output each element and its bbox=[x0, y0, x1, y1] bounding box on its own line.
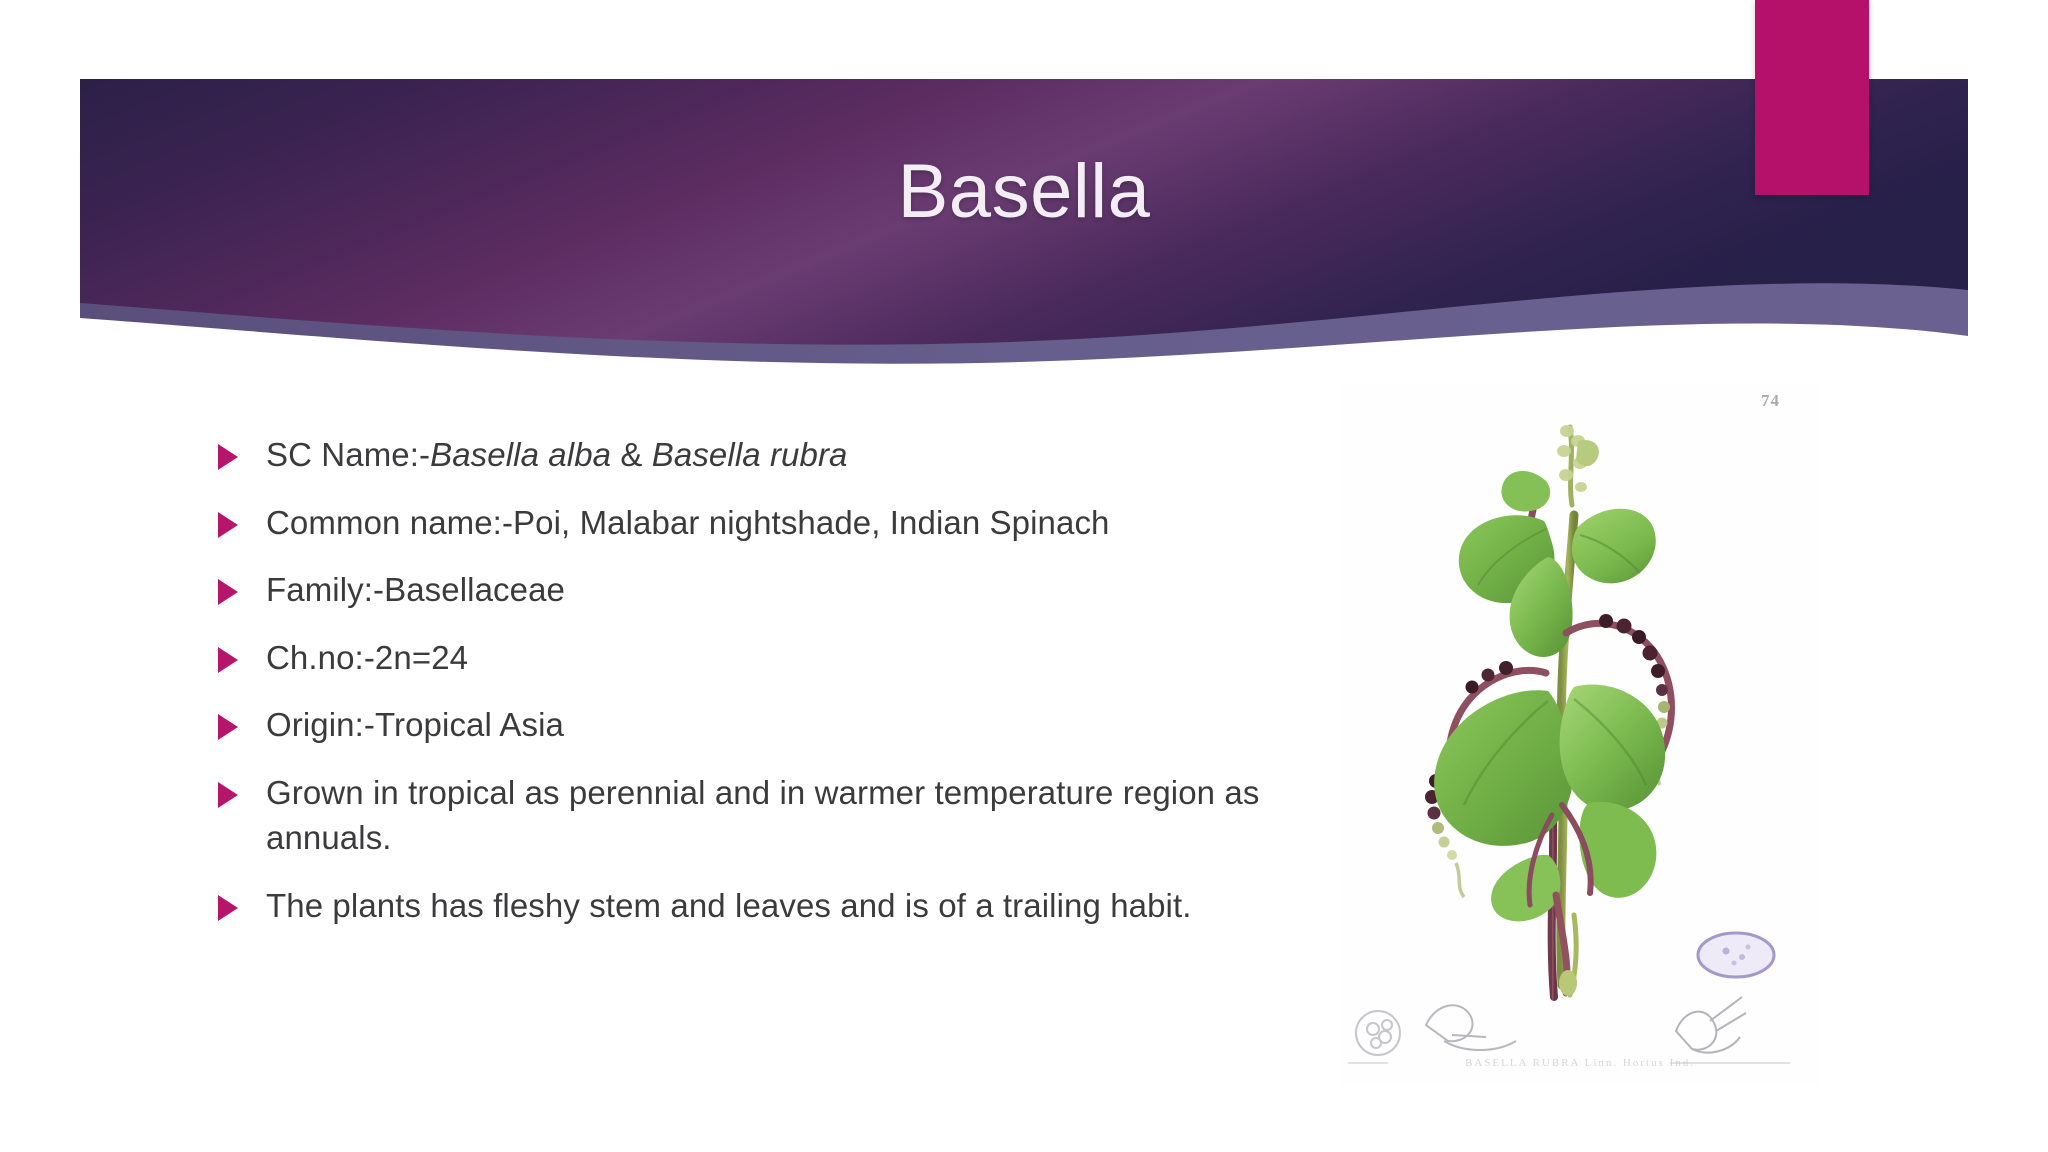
triangle-bullet-icon bbox=[218, 647, 244, 673]
triangle-bullet-icon bbox=[218, 579, 244, 605]
list-item-text: Grown in tropical as perennial and in wa… bbox=[266, 770, 1328, 861]
list-item-text: Ch.no:-2n=24 bbox=[266, 635, 1328, 681]
triangle-bullet-icon bbox=[218, 782, 244, 808]
list-item: Family:-Basellaceae bbox=[218, 567, 1328, 613]
presentation-slide: Basella SC Name:-Basella alba & Basella … bbox=[0, 0, 2048, 1152]
triangle-bullet-icon bbox=[218, 895, 244, 921]
list-item-text: SC Name:-Basella alba & Basella rubra bbox=[266, 432, 1328, 478]
basella-plant-svg bbox=[1340, 385, 1820, 1085]
basal-bud bbox=[1559, 970, 1577, 996]
list-item: The plants has fleshy stem and leaves an… bbox=[218, 883, 1328, 929]
plant-illustration: 74 BASELLA RUBRA Linn. Hortus Ind. bbox=[1340, 385, 1820, 1085]
triangle-bullet-icon bbox=[218, 444, 244, 470]
list-item: SC Name:-Basella alba & Basella rubra bbox=[218, 432, 1328, 478]
list-item-text: The plants has fleshy stem and leaves an… bbox=[266, 883, 1328, 929]
list-item: Common name:-Poi, Malabar nightshade, In… bbox=[218, 500, 1328, 546]
page-title: Basella bbox=[898, 150, 1151, 234]
list-item-text: Family:-Basellaceae bbox=[266, 567, 1328, 613]
plate-number: 74 bbox=[1761, 391, 1780, 411]
list-item: Ch.no:-2n=24 bbox=[218, 635, 1328, 681]
triangle-bullet-icon bbox=[218, 714, 244, 740]
dissection-detail-seed bbox=[1698, 933, 1774, 977]
plate-caption: BASELLA RUBRA Linn. Hortus Ind. bbox=[1340, 1057, 1820, 1069]
list-item: Origin:-Tropical Asia bbox=[218, 702, 1328, 748]
list-item-text: Origin:-Tropical Asia bbox=[266, 702, 1328, 748]
list-item: Grown in tropical as perennial and in wa… bbox=[218, 770, 1328, 861]
title-container: Basella bbox=[80, 150, 1968, 234]
triangle-bullet-icon bbox=[218, 512, 244, 538]
list-item-text: Common name:-Poi, Malabar nightshade, In… bbox=[266, 500, 1328, 546]
bullet-list: SC Name:-Basella alba & Basella rubra Co… bbox=[218, 432, 1328, 950]
